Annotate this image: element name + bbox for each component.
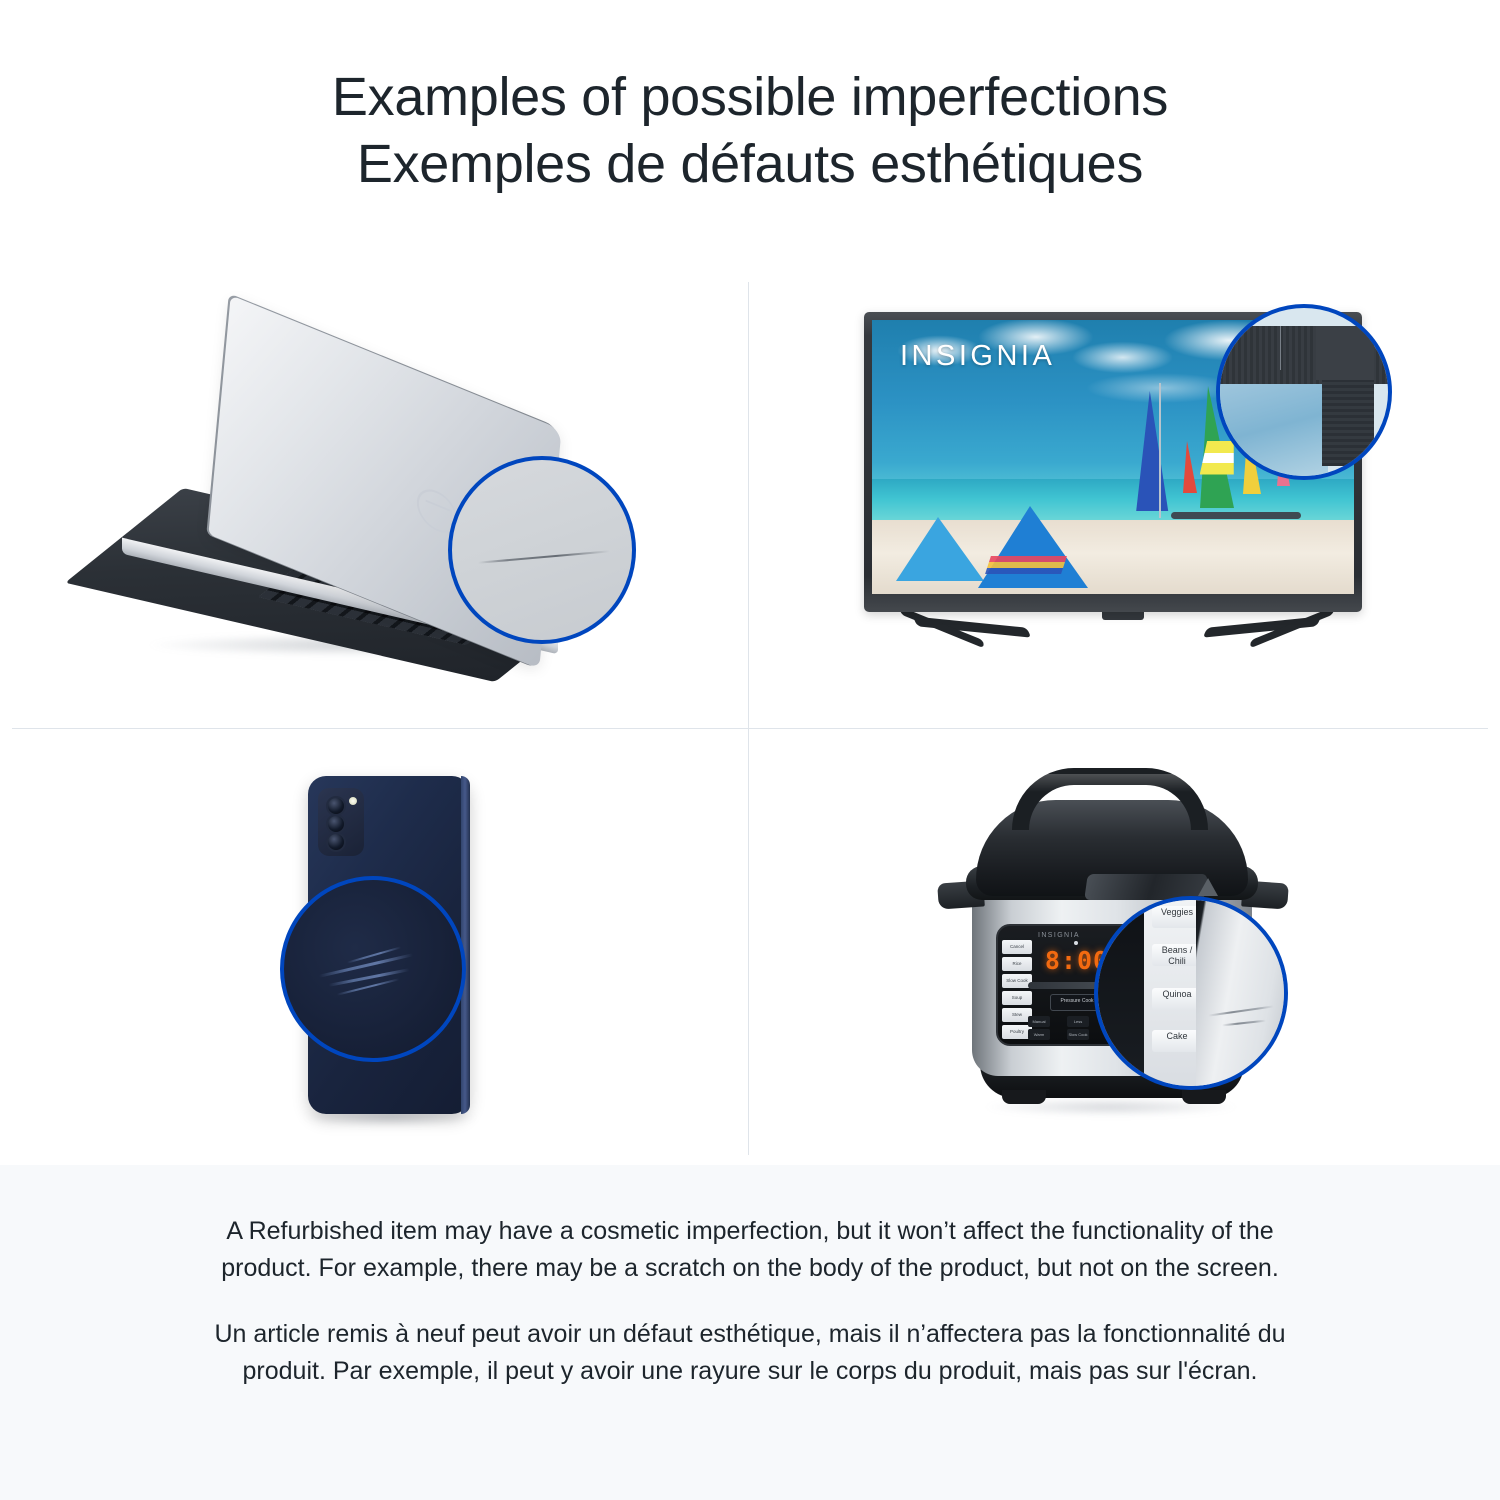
tv-screen-tent-a [896, 517, 984, 581]
disclaimer-paragraph-english: A Refurbished item may have a cosmetic i… [190, 1213, 1310, 1286]
tv-screen-brand-logo: INSIGNIA [900, 340, 1055, 373]
cooker-button[interactable]: Cancel [1002, 940, 1032, 954]
page-title-english: Examples of possible imperfections [332, 64, 1168, 131]
camera-flash-icon [349, 797, 357, 805]
tv-screen-tent-stripes [985, 556, 1067, 574]
examples-grid: INSIGNIA [0, 272, 1500, 1165]
magnifier-circle-laptop [448, 456, 636, 644]
magnified-tv-panel [1220, 382, 1328, 480]
magnified-cooker-stainless-body [1196, 900, 1284, 1086]
cooker-key[interactable]: Warm [1028, 1029, 1050, 1040]
cooker-brand-label: INSIGNIA [1038, 932, 1080, 939]
magnified-cooker-button: Beans / Chili [1152, 944, 1202, 966]
tv-foot-left [913, 616, 1032, 637]
camera-lens-icon [326, 832, 346, 852]
cooker-button[interactable]: Rice [1002, 957, 1032, 971]
cooker-status-led-icon [1074, 941, 1078, 945]
phone-camera-module [318, 788, 364, 856]
magnifier-circle-phone [280, 876, 466, 1062]
magnifier-circle-cooker: Veggies Beans / Chili Quinoa Cake [1094, 896, 1288, 1090]
grid-vertical-divider [748, 282, 749, 1155]
laptop-illustration [110, 352, 670, 692]
example-cell-laptop [0, 272, 748, 728]
scratch-mark-laptop [478, 550, 610, 563]
example-cell-smartphone [0, 730, 748, 1186]
tv-screen-tent-b [978, 506, 1088, 588]
camera-lens-icon [326, 796, 346, 816]
scuff-mark-tv [1280, 326, 1281, 370]
tv-screen-sail-red [1183, 441, 1197, 493]
magnifier-tv-content [1220, 308, 1388, 476]
cooker-foot-left [1002, 1090, 1046, 1104]
cooker-key[interactable]: Manual [1028, 1016, 1050, 1027]
camera-lens-icon [326, 814, 346, 834]
example-cell-pressure-cooker: INSIGNIA 8:00 Cancel Rice Slow Cook Soup… [752, 730, 1500, 1186]
disclaimer-paragraph-french: Un article remis à neuf peut avoir un dé… [190, 1316, 1310, 1389]
header: Examples of possible imperfections Exemp… [0, 0, 1500, 272]
magnified-cooker-button: Veggies [1152, 906, 1202, 928]
tv-screen-mast [1159, 383, 1161, 518]
scratch-mark-cooker [1222, 1020, 1266, 1026]
tv-foot-right [1203, 616, 1322, 637]
magnified-cooker-button: Cake [1152, 1030, 1202, 1052]
cooker-handle-highlight [1028, 774, 1192, 792]
footer-disclaimer: A Refurbished item may have a cosmetic i… [0, 1165, 1500, 1500]
example-cell-television: INSIGNIA [752, 272, 1500, 728]
magnified-cooker-button: Quinoa [1152, 988, 1202, 1010]
cooker-key[interactable]: Slow Cook [1067, 1029, 1089, 1040]
grid-horizontal-divider [12, 728, 1488, 729]
tv-screen-boat-hull [1171, 512, 1301, 519]
scratch-mark-cooker [1208, 1005, 1274, 1016]
smartphone-illustration [252, 768, 582, 1148]
cooker-foot-right [1182, 1090, 1226, 1104]
magnified-tv-bezel-corner [1316, 326, 1374, 380]
refurbished-imperfections-infographic: Examples of possible imperfections Exemp… [0, 0, 1500, 1500]
cooker-key[interactable]: Less [1067, 1016, 1089, 1027]
pressure-cooker-illustration: INSIGNIA 8:00 Cancel Rice Slow Cook Soup… [936, 754, 1336, 1154]
television-illustration: INSIGNIA [840, 304, 1400, 694]
page-title-french: Exemples de défauts esthétiques [357, 131, 1143, 198]
magnifier-circle-tv [1216, 304, 1392, 480]
